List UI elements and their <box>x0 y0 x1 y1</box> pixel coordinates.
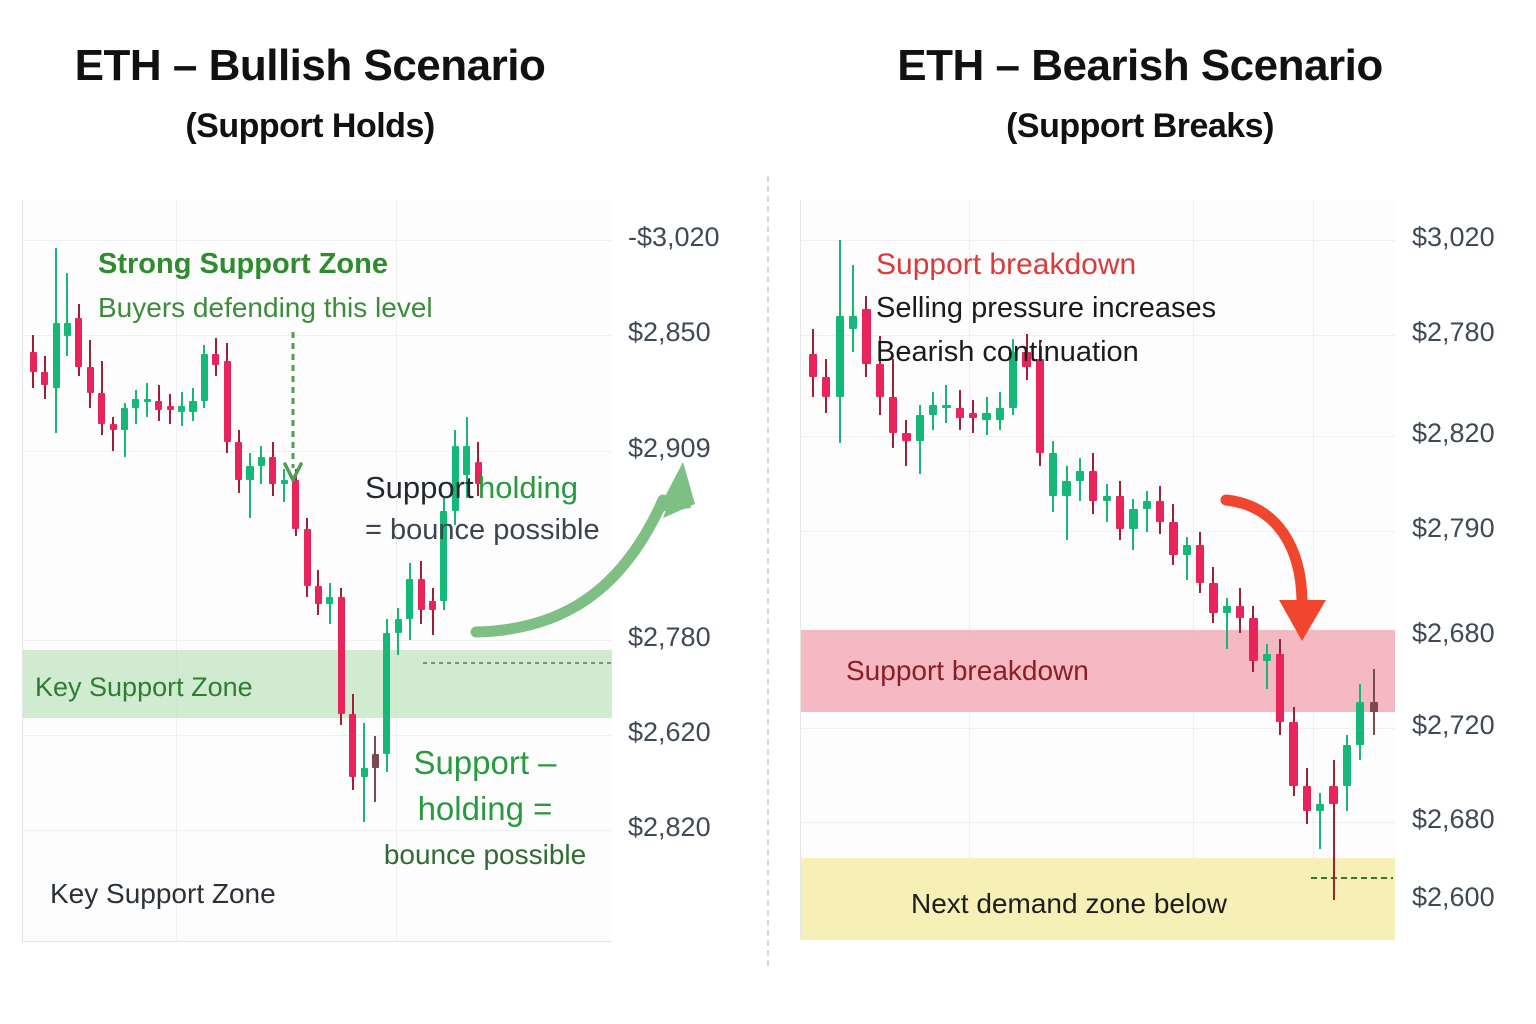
axis-tick-label: $2,680 <box>1412 804 1495 835</box>
axis-tick-label: $2,720 <box>1412 710 1495 741</box>
axis-tick-label: $2,620 <box>628 717 711 748</box>
strong-support-zone-headline: Strong Support Zone <box>98 248 388 281</box>
axis-tick-label: $2,680 <box>1412 618 1495 649</box>
axis-tick-label: $2,909 <box>628 433 711 464</box>
axis-tick-label: -$3,020 <box>628 222 720 253</box>
panel-divider <box>767 176 769 966</box>
axis-tick-label: $2,820 <box>628 812 711 843</box>
axis-tick-label: $2,820 <box>1412 418 1495 449</box>
bearish-continuation-subline: Bearish continuation <box>876 336 1139 369</box>
axis-tick-label: $2,790 <box>1412 513 1495 544</box>
axis-tick-label: $2,600 <box>1412 882 1495 913</box>
left-panel-title: ETH – Bullish Scenario <box>0 38 620 94</box>
support-holding-callout-line1: Support holding <box>365 470 578 506</box>
callout-word-support: Support <box>365 470 474 505</box>
selling-pressure-subline: Selling pressure increases <box>876 292 1216 325</box>
right-panel-title: ETH – Bearish Scenario <box>830 38 1450 94</box>
bounce-possible-callout: Support – holding = bounce possible <box>355 740 615 878</box>
axis-tick-label: $3,020 <box>1412 222 1495 253</box>
buyers-defending-subline: Buyers defending this level <box>98 292 433 324</box>
bounce-callout-line1: Support – <box>355 740 615 786</box>
axis-tick-label: $2,850 <box>628 317 711 348</box>
support-breakdown-headline: Support breakdown <box>876 248 1136 282</box>
right-panel-subtitle: (Support Breaks) <box>830 104 1450 148</box>
key-support-zone-footer: Key Support Zone <box>50 878 276 910</box>
axis-tick-label: $2,780 <box>628 622 711 653</box>
left-panel-subtitle: (Support Holds) <box>0 104 620 148</box>
support-holding-callout-line2: = bounce possible <box>365 514 600 547</box>
bounce-callout-line2: holding = <box>355 786 615 832</box>
infographic-root: ETH – Bullish Scenario (Support Holds) E… <box>0 0 1536 1024</box>
bounce-callout-line3: bounce possible <box>355 832 615 878</box>
callout-word-holding: holding <box>478 470 578 505</box>
axis-tick-label: $2,780 <box>1412 317 1495 348</box>
